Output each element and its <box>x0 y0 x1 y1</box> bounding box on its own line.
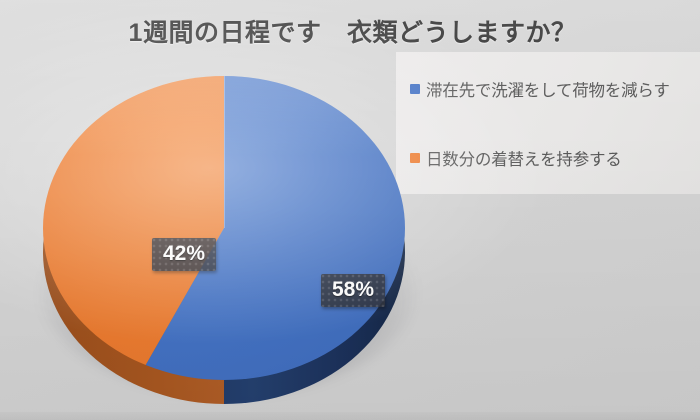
pie-slice-divider <box>224 76 225 228</box>
legend-item-blue[interactable]: 滞在先で洗濯をして荷物を減らす <box>410 74 700 104</box>
legend-label-orange: 日数分の着替えを持参する <box>426 146 622 170</box>
pie-chart[interactable]: 58% 42% <box>36 68 416 398</box>
chart-legend: 滞在先で洗濯をして荷物を減らす 日数分の着替えを持参する <box>410 74 700 173</box>
legend-item-orange[interactable]: 日数分の着替えを持参する <box>410 143 700 173</box>
slide-bottom-edge <box>0 412 700 420</box>
slide-canvas: 1週間の日程です 衣類どうしますか？ 58% 42% 滞在先で洗濯をして荷物を減… <box>0 0 700 420</box>
chart-title: 1週間の日程です 衣類どうしますか？ <box>60 13 645 49</box>
legend-label-blue: 滞在先で洗濯をして荷物を減らす <box>426 77 670 101</box>
data-label-orange: 42% <box>152 238 216 271</box>
data-label-blue: 58% <box>321 274 385 307</box>
legend-swatch-orange-icon <box>410 153 420 163</box>
pie-top-face <box>43 76 405 380</box>
legend-swatch-blue-icon <box>410 84 420 94</box>
